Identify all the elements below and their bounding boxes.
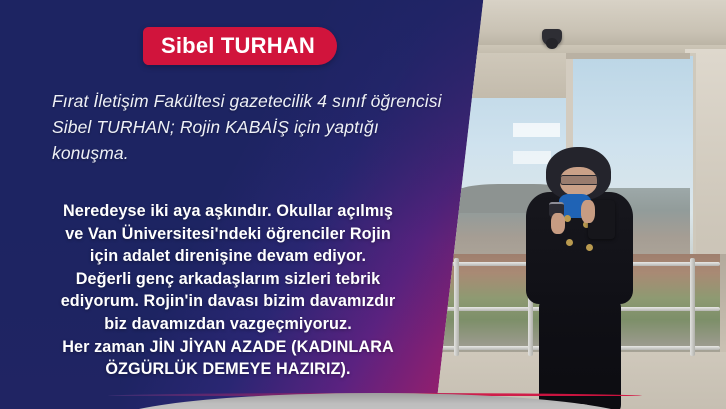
- person-figure: [519, 147, 643, 409]
- speech-line: ÖZGÜRLÜK DEMEYE HAZIRIZ).: [22, 358, 434, 381]
- coat-button: [566, 239, 573, 246]
- glass-reflection: [513, 123, 560, 137]
- speech-text-block: Neredeyse iki aya aşkındır. Okullar açıl…: [22, 200, 434, 381]
- speech-line: için adalet direnişine devam ediyor.: [22, 245, 434, 268]
- speaker-name-label: Sibel TURHAN: [161, 33, 315, 59]
- speech-line: ve Van Üniversitesi'ndeki öğrenciler Roj…: [22, 223, 434, 246]
- speech-line: biz davamızdan vazgeçmiyoruz.: [22, 313, 434, 336]
- railing-post: [690, 258, 695, 356]
- security-camera-icon: [542, 29, 562, 46]
- coat-button: [586, 244, 593, 251]
- railing-post: [454, 258, 459, 356]
- person-hand-left: [551, 213, 565, 234]
- subtitle-description: Fırat İletişim Fakültesi gazetecilik 4 s…: [52, 88, 452, 166]
- speech-line: Neredeyse iki aya aşkındır. Okullar açıl…: [22, 200, 434, 223]
- social-media-quote-card: Sibel TURHAN Fırat İletişim Fakültesi ga…: [0, 0, 726, 409]
- person-hand-right: [581, 200, 595, 224]
- speech-line: Her zaman JİN JİYAN AZADE (KADINLARA: [22, 336, 434, 359]
- speech-line: Değerli genç arkadaşlarım sizleri tebrik: [22, 268, 434, 291]
- person-trousers: [539, 294, 621, 409]
- eyeglasses-icon: [560, 175, 599, 185]
- speaker-name-badge: Sibel TURHAN: [143, 27, 337, 65]
- speech-line: ediyorum. Rojin'in davası bizim davamızd…: [22, 290, 434, 313]
